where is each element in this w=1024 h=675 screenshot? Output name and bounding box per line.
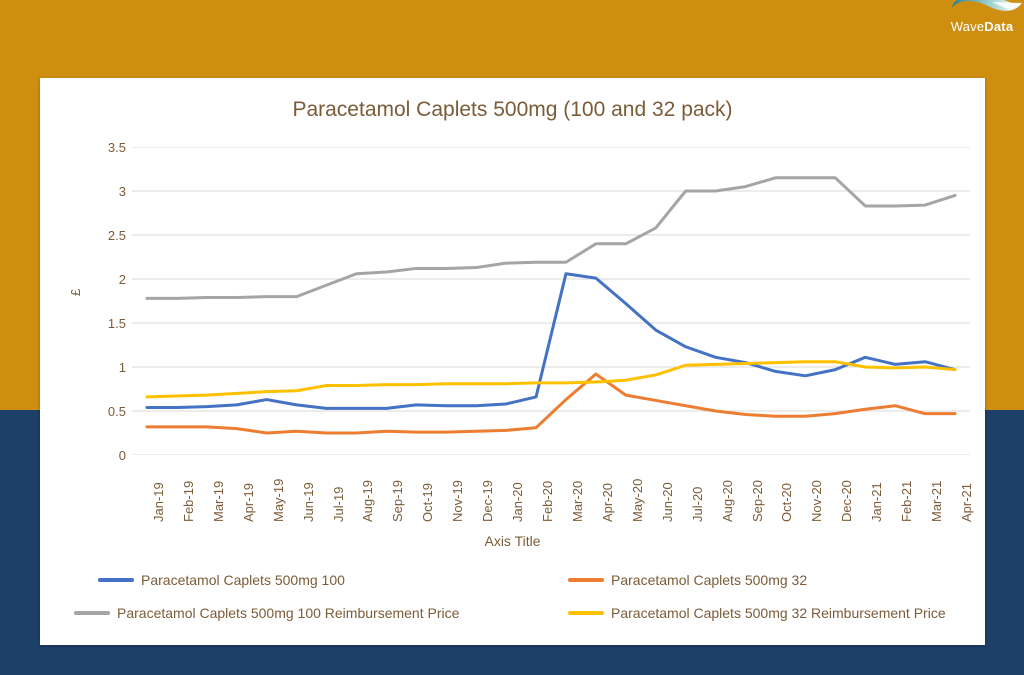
x-tick-label: Aug-20 <box>721 480 734 522</box>
x-tick-label: Feb-20 <box>541 481 554 522</box>
x-tick-label: Feb-19 <box>182 481 195 522</box>
x-tick-label: Jan-19 <box>152 482 165 522</box>
x-tick-label: Dec-20 <box>840 480 853 522</box>
y-tick-label: 2.5 <box>86 229 126 242</box>
y-tick-label: 0 <box>86 449 126 462</box>
series-lines <box>147 178 955 433</box>
y-tick-label: 3.5 <box>86 141 126 154</box>
chart-legend: Paracetamol Caplets 500mg 100 Paracetamo… <box>98 573 978 639</box>
wave-swoosh-icon <box>948 0 1024 20</box>
logo-text-data: Data <box>984 19 1013 34</box>
x-tick-label: Aug-19 <box>361 480 374 522</box>
legend-item-2[interactable]: Paracetamol Caplets 500mg 100 Reimbursem… <box>74 606 459 620</box>
x-tick-label: Sep-20 <box>751 480 764 522</box>
y-tick-label: 0.5 <box>86 405 126 418</box>
x-tick-label: Sep-19 <box>391 480 404 522</box>
x-tick-label: May-20 <box>631 479 644 522</box>
x-tick-label: Mar-20 <box>571 481 584 522</box>
series-line-2 <box>147 178 955 299</box>
logo-wordmark: WaveData <box>940 20 1024 33</box>
x-tick-label: Apr-21 <box>960 483 973 522</box>
y-axis-tick-labels: 00.511.522.533.5 <box>82 147 126 455</box>
plot-area <box>132 147 970 455</box>
legend-item-0[interactable]: Paracetamol Caplets 500mg 100 <box>98 573 345 587</box>
legend-swatch-2 <box>74 611 110 615</box>
x-tick-label: Jun-20 <box>661 482 674 522</box>
x-tick-label: Jul-19 <box>332 487 345 522</box>
y-tick-label: 3 <box>86 185 126 198</box>
legend-row-1: Paracetamol Caplets 500mg 100 Paracetamo… <box>98 573 978 606</box>
legend-swatch-1 <box>568 578 604 582</box>
legend-swatch-0 <box>98 578 134 582</box>
x-tick-label: Mar-19 <box>212 481 225 522</box>
legend-item-3[interactable]: Paracetamol Caplets 500mg 32 Reimburseme… <box>568 606 946 620</box>
x-tick-label: Feb-21 <box>900 481 913 522</box>
y-tick-label: 2 <box>86 273 126 286</box>
legend-swatch-3 <box>568 611 604 615</box>
legend-label-0: Paracetamol Caplets 500mg 100 <box>141 573 345 587</box>
x-tick-label: Jul-20 <box>691 487 704 522</box>
x-tick-label: Jan-20 <box>511 482 524 522</box>
x-axis-title: Axis Title <box>40 533 985 549</box>
x-tick-label: May-19 <box>272 479 285 522</box>
x-tick-label: Nov-20 <box>810 480 823 522</box>
x-tick-label: Jun-19 <box>302 482 315 522</box>
x-tick-label: Apr-19 <box>242 483 255 522</box>
legend-label-1: Paracetamol Caplets 500mg 32 <box>611 573 807 587</box>
x-tick-label: Mar-21 <box>930 481 943 522</box>
legend-row-2: Paracetamol Caplets 500mg 100 Reimbursem… <box>98 606 978 639</box>
y-axis-title: £ <box>68 289 83 296</box>
legend-label-3: Paracetamol Caplets 500mg 32 Reimburseme… <box>611 606 946 620</box>
y-tick-label: 1 <box>86 361 126 374</box>
x-tick-label: Oct-19 <box>421 483 434 522</box>
x-tick-label: Apr-20 <box>601 483 614 522</box>
x-axis-tick-labels: Jan-19Feb-19Mar-19Apr-19May-19Jun-19Jul-… <box>132 460 970 530</box>
x-tick-label: Dec-19 <box>481 480 494 522</box>
x-tick-label: Oct-20 <box>780 483 793 522</box>
x-tick-label: Jan-21 <box>870 482 883 522</box>
logo-text-wave: Wave <box>951 19 985 34</box>
chart-title: Paracetamol Caplets 500mg (100 and 32 pa… <box>40 98 985 122</box>
chart-svg <box>132 147 970 455</box>
chart-card: Paracetamol Caplets 500mg (100 and 32 pa… <box>40 78 985 645</box>
wavedata-logo: WaveData <box>940 0 1024 34</box>
x-tick-label: Nov-19 <box>451 480 464 522</box>
legend-item-1[interactable]: Paracetamol Caplets 500mg 32 <box>568 573 807 587</box>
legend-label-2: Paracetamol Caplets 500mg 100 Reimbursem… <box>117 606 459 620</box>
gridlines <box>132 147 970 455</box>
series-line-0 <box>147 274 955 409</box>
y-tick-label: 1.5 <box>86 317 126 330</box>
